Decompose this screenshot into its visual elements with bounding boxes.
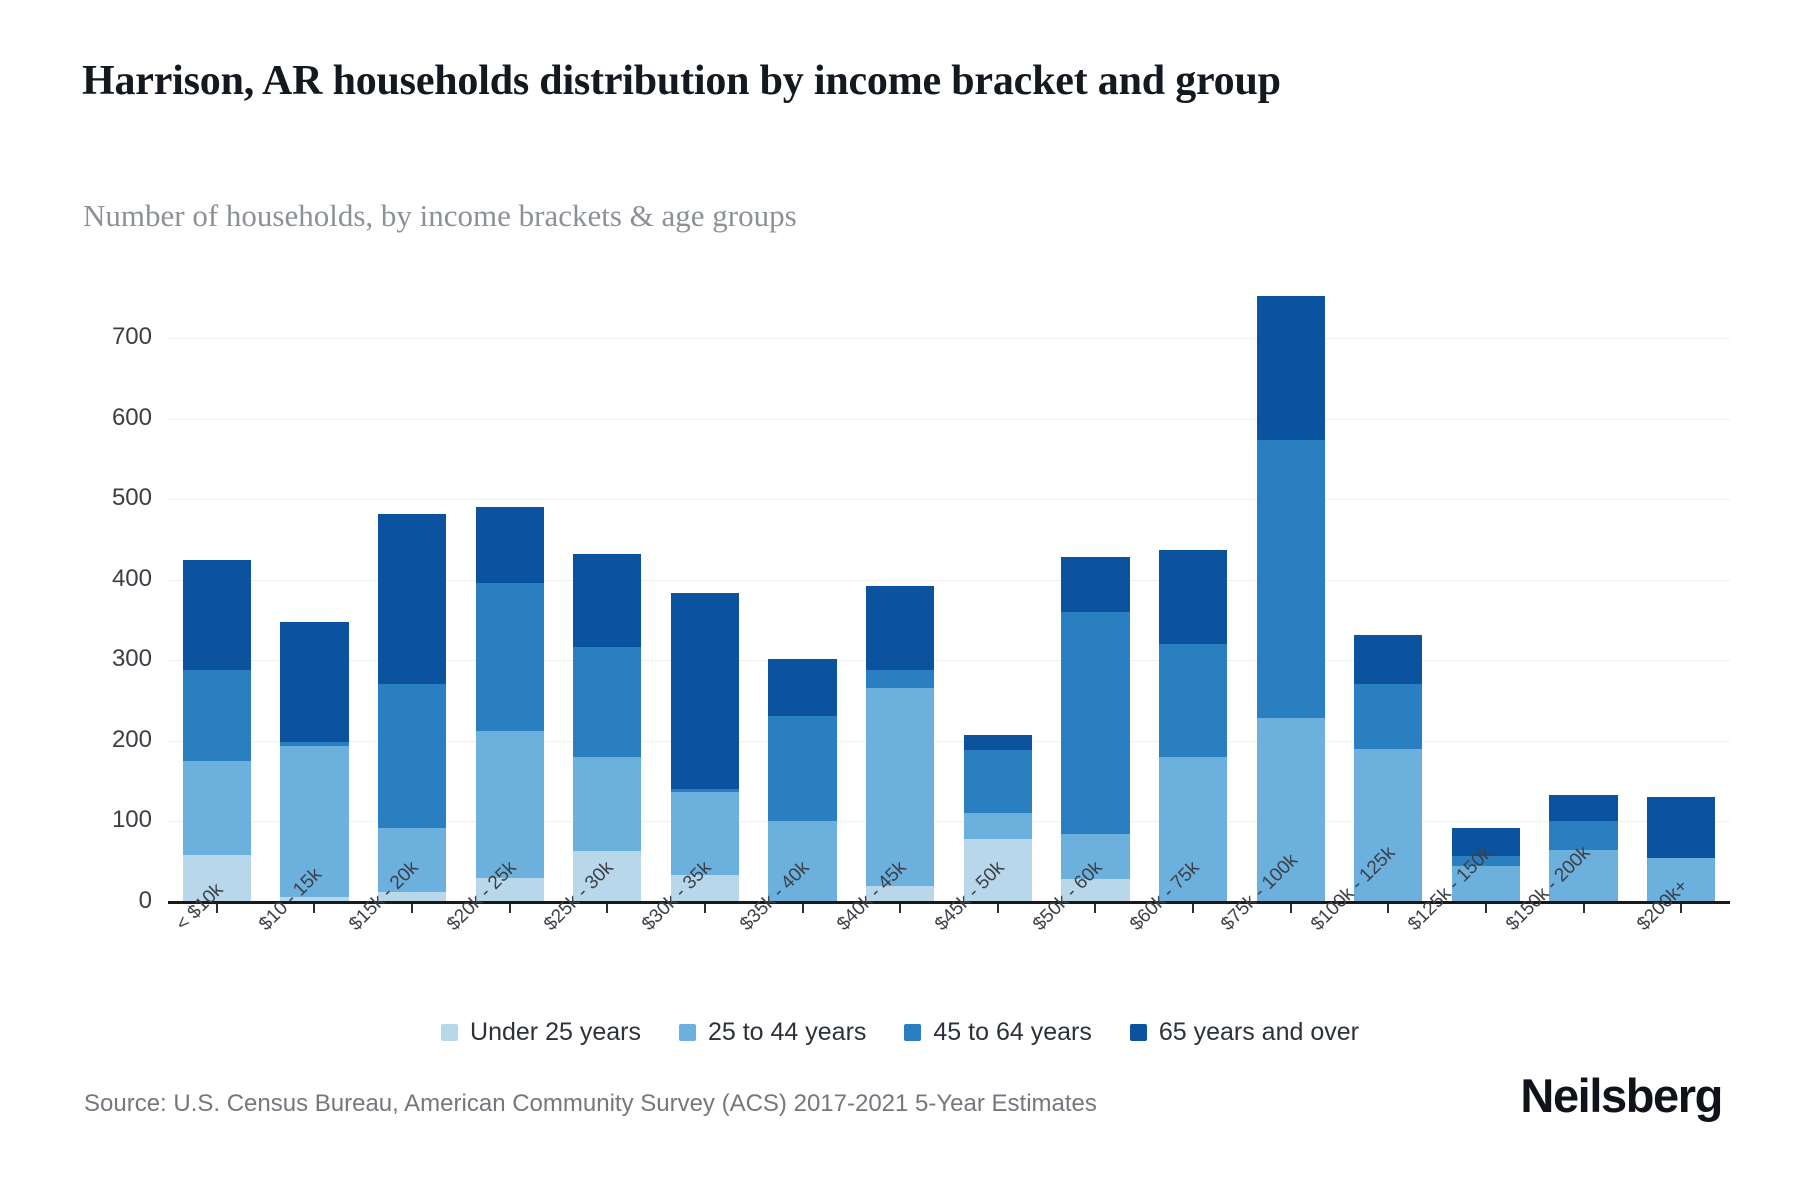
x-axis-tickmark — [509, 904, 511, 913]
y-axis-tick-label: 200 — [48, 726, 152, 754]
bar-group[interactable] — [964, 0, 1032, 902]
bar-segment[interactable] — [866, 670, 934, 689]
legend-swatch-icon — [904, 1024, 921, 1041]
bar-segment[interactable] — [964, 813, 1032, 840]
legend-item[interactable]: 65 years and over — [1130, 1018, 1359, 1047]
y-axis-tick-label: 100 — [48, 806, 152, 834]
legend-item[interactable]: 25 to 44 years — [679, 1018, 866, 1047]
bar-segment[interactable] — [1354, 635, 1422, 685]
y-axis-tick-label: 500 — [48, 484, 152, 512]
bar-segment[interactable] — [964, 750, 1032, 813]
bar-group[interactable] — [1354, 0, 1422, 902]
bar-segment[interactable] — [671, 593, 739, 789]
bar-group[interactable] — [1549, 0, 1617, 902]
x-axis-tickmark — [704, 904, 706, 913]
x-axis-tickmark — [1680, 904, 1682, 913]
legend-item[interactable]: Under 25 years — [441, 1018, 641, 1047]
bar-segment[interactable] — [768, 716, 836, 822]
bar-segment[interactable] — [964, 735, 1032, 750]
chart-legend: Under 25 years25 to 44 years45 to 64 yea… — [0, 1018, 1800, 1047]
bar-segment[interactable] — [280, 742, 348, 746]
bar-group[interactable] — [280, 0, 348, 902]
x-axis-tickmark — [997, 904, 999, 913]
x-axis-tickmark — [606, 904, 608, 913]
x-axis-tickmark — [1192, 904, 1194, 913]
x-axis-tickmark — [1290, 904, 1292, 913]
legend-label: 25 to 44 years — [708, 1018, 866, 1047]
bar-segment[interactable] — [280, 622, 348, 743]
x-axis-tickmark — [1583, 904, 1585, 913]
x-axis-tickmark — [1485, 904, 1487, 913]
bar-segment[interactable] — [476, 507, 544, 583]
bar-segment[interactable] — [1159, 550, 1227, 644]
bar-segment[interactable] — [671, 789, 739, 791]
bar-segment[interactable] — [768, 659, 836, 716]
bar-group[interactable] — [768, 0, 836, 902]
bar-segment[interactable] — [183, 560, 251, 670]
x-axis-tickmark — [411, 904, 413, 913]
bar-segment[interactable] — [183, 761, 251, 855]
bar-group[interactable] — [476, 0, 544, 902]
bar-segment[interactable] — [476, 731, 544, 878]
bar-segment[interactable] — [1257, 296, 1325, 440]
x-axis-tickmark — [1387, 904, 1389, 913]
bar-group[interactable] — [1257, 0, 1325, 902]
legend-label: Under 25 years — [470, 1018, 641, 1047]
bar-segment[interactable] — [1257, 440, 1325, 718]
bar-segment[interactable] — [183, 670, 251, 761]
bar-segment[interactable] — [1159, 644, 1227, 757]
legend-swatch-icon — [1130, 1024, 1147, 1041]
x-axis-tickmark — [1094, 904, 1096, 913]
bar-segment[interactable] — [378, 514, 446, 684]
y-axis-tick-label: 300 — [48, 645, 152, 673]
legend-item[interactable]: 45 to 64 years — [904, 1018, 1091, 1047]
bar-segment[interactable] — [476, 583, 544, 731]
bar-group[interactable] — [671, 0, 739, 902]
bar-segment[interactable] — [1354, 684, 1422, 748]
bar-group[interactable] — [1452, 0, 1520, 902]
legend-swatch-icon — [441, 1024, 458, 1041]
legend-label: 45 to 64 years — [933, 1018, 1091, 1047]
y-axis-tick-label: 400 — [48, 565, 152, 593]
x-axis-tickmark — [802, 904, 804, 913]
bar-segment[interactable] — [378, 684, 446, 827]
bar-group[interactable] — [183, 0, 251, 902]
legend-label: 65 years and over — [1159, 1018, 1359, 1047]
bar-group[interactable] — [1159, 0, 1227, 902]
y-axis-tick-label: 700 — [48, 323, 152, 351]
bar-group[interactable] — [1061, 0, 1129, 902]
bar-group[interactable] — [378, 0, 446, 902]
x-axis-tickmark — [899, 904, 901, 913]
bar-segment[interactable] — [573, 757, 641, 851]
bar-segment[interactable] — [1647, 797, 1715, 857]
legend-swatch-icon — [679, 1024, 696, 1041]
y-axis-tick-label: 0 — [48, 887, 152, 915]
chart-page: Harrison, AR households distribution by … — [0, 0, 1800, 1200]
bar-segment[interactable] — [573, 554, 641, 647]
bar-group[interactable] — [1647, 0, 1715, 902]
bar-group[interactable] — [573, 0, 641, 902]
brand-logo: Neilsberg — [1520, 1068, 1722, 1123]
bar-segment[interactable] — [866, 586, 934, 670]
x-axis-tickmark — [313, 904, 315, 913]
bar-segment[interactable] — [866, 688, 934, 885]
bar-segment[interactable] — [573, 647, 641, 757]
bar-segment[interactable] — [1061, 612, 1129, 834]
bar-segment[interactable] — [1549, 795, 1617, 822]
bar-segment[interactable] — [1061, 557, 1129, 612]
source-note: Source: U.S. Census Bureau, American Com… — [84, 1090, 1097, 1118]
bar-group[interactable] — [866, 0, 934, 902]
y-axis-tick-label: 600 — [48, 404, 152, 432]
